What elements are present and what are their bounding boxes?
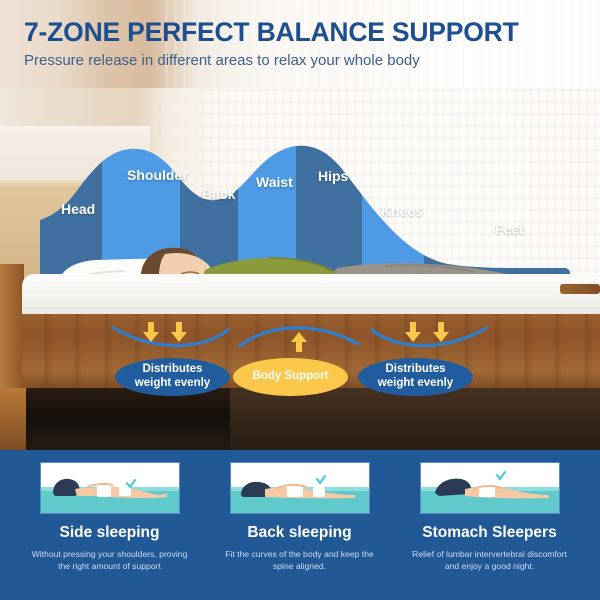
callout-line-2: weight evenly	[135, 377, 210, 389]
support-curves-and-arrows	[110, 320, 490, 362]
sleep-position-card-side[interactable]: Side sleeping Without pressing your shou…	[22, 462, 197, 573]
arrow-down-right-group	[405, 322, 449, 342]
curve-concave-left	[114, 328, 228, 346]
sleep-positions-panel: Side sleeping Without pressing your shou…	[0, 450, 600, 600]
bedroom-photo-scene: Head Shoulder Back Waist Hips Knees Feet	[0, 88, 600, 450]
zone-label-shoulder: Shoulder	[127, 167, 188, 183]
page-subtitle: Pressure release in different areas to r…	[24, 52, 420, 69]
mattress	[22, 274, 600, 314]
card-title: Side sleeping	[22, 524, 197, 542]
back-sleeping-illustration	[230, 462, 370, 514]
back-sleeper-figure	[231, 463, 370, 514]
arrow-down-icon	[433, 322, 449, 342]
arrow-down-icon	[143, 322, 159, 342]
side-sleeper-figure	[41, 463, 180, 514]
stomach-sleeping-illustration	[420, 462, 560, 514]
arrow-down-icon	[405, 322, 421, 342]
callout-text: Distributes weight evenly	[378, 363, 453, 390]
product-infographic: 7-ZONE PERFECT BALANCE SUPPORT Pressure …	[0, 0, 600, 600]
callout-distribute-right: Distributes weight evenly	[358, 358, 473, 396]
floor-left-post	[0, 388, 26, 450]
floor-rug	[230, 388, 600, 450]
arrow-down-icon	[171, 322, 187, 342]
curve-concave-right	[372, 328, 486, 346]
callout-distribute-left: Distributes weight evenly	[115, 358, 230, 396]
card-description: Without pressing your shoulders, proving…	[22, 548, 197, 573]
card-title: Stomach Sleepers	[402, 524, 577, 542]
stomach-sleeper-figure	[421, 463, 560, 514]
arrow-up-icon	[291, 332, 307, 352]
callout-body-support: Body Support	[233, 358, 348, 396]
zone-label-hips: Hips	[318, 168, 348, 184]
mattress-texture	[22, 274, 600, 314]
bed-side-rail	[560, 284, 600, 294]
card-description: Fit the curves of the body and keep the …	[212, 548, 387, 573]
callout-text: Distributes weight evenly	[135, 363, 210, 390]
arrow-down-left-group	[143, 322, 187, 342]
side-sleeping-illustration	[40, 462, 180, 514]
callout-text: Body Support	[252, 370, 328, 384]
card-title: Back sleeping	[212, 524, 387, 542]
page-title: 7-ZONE PERFECT BALANCE SUPPORT	[24, 17, 519, 48]
zone-label-waist: Waist	[256, 174, 293, 190]
callout-line-1: Distributes	[385, 363, 445, 375]
sleep-position-card-stomach[interactable]: Stomach Sleepers Relief of lumbar interv…	[402, 462, 577, 573]
sleep-position-card-back[interactable]: Back sleeping Fit the curves of the body…	[212, 462, 387, 573]
header-section: 7-ZONE PERFECT BALANCE SUPPORT Pressure …	[0, 0, 600, 88]
callout-line-2: weight evenly	[378, 377, 453, 389]
bed-post	[0, 264, 24, 390]
callout-line-1: Distributes	[142, 363, 202, 375]
arrow-up-center-group	[291, 332, 307, 352]
card-description: Relief of lumbar intervertebral discomfo…	[402, 548, 577, 573]
